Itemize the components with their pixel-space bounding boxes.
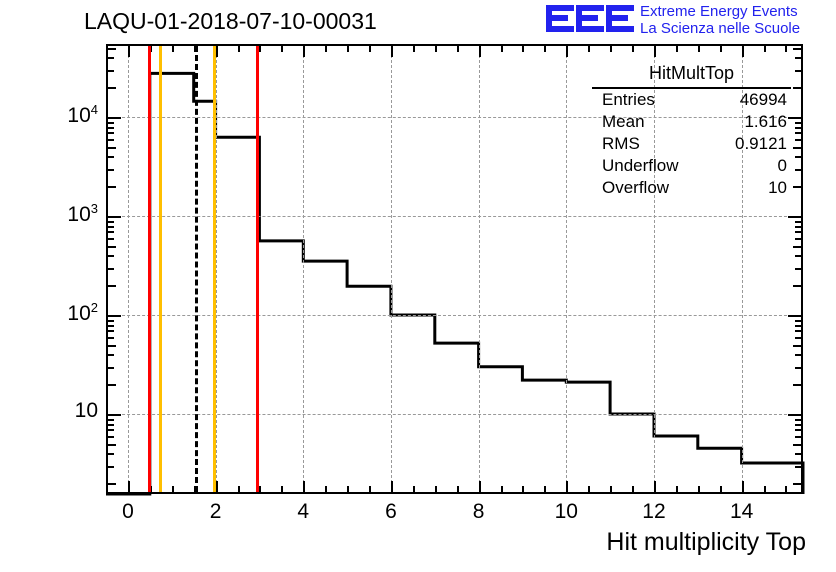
y-tick-right <box>795 238 802 240</box>
x-tick <box>303 481 305 493</box>
x-tick-top <box>457 45 459 52</box>
y-tick <box>107 127 114 129</box>
gridline-vertical <box>128 45 129 493</box>
y-tick <box>107 147 116 149</box>
y-tick-right <box>795 70 802 72</box>
y-tick-right <box>793 384 802 386</box>
x-tick <box>588 486 590 493</box>
x-tick <box>501 486 503 493</box>
y-tick-right <box>795 231 802 233</box>
x-tick <box>544 486 546 493</box>
y-tick <box>107 238 114 240</box>
marker-line-2 <box>195 46 198 492</box>
y-tick-label: 103 <box>10 201 98 227</box>
x-tick <box>281 486 283 493</box>
y-tick <box>107 315 121 317</box>
y-tick <box>107 87 116 89</box>
y-tick-right <box>793 483 802 485</box>
y-tick-right <box>793 87 802 89</box>
y-tick-right <box>795 337 802 339</box>
x-tick-top <box>522 45 524 52</box>
y-tick-right <box>795 453 802 455</box>
x-tick-top <box>391 45 393 57</box>
y-tick-right <box>793 48 802 50</box>
stats-key: Mean <box>602 112 645 132</box>
y-tick <box>107 226 114 228</box>
y-tick-right <box>793 246 802 248</box>
x-tick-top <box>588 45 590 52</box>
stats-row: Mean1.616 <box>592 111 791 133</box>
x-tick-top <box>610 45 612 52</box>
x-tick-top <box>303 45 305 57</box>
y-tick <box>107 216 121 218</box>
y-tick <box>107 246 116 248</box>
y-tick-right <box>795 268 802 270</box>
x-tick-top <box>435 45 437 52</box>
y-tick-right <box>795 424 802 426</box>
x-tick <box>457 486 459 493</box>
x-tick-top <box>413 45 415 52</box>
x-tick-top <box>128 45 130 57</box>
x-tick-top <box>325 45 327 52</box>
y-tick-right <box>793 345 802 347</box>
stats-key: Underflow <box>602 156 679 176</box>
marker-line-0 <box>148 46 151 492</box>
x-tick <box>128 481 130 493</box>
x-tick-top <box>720 45 722 52</box>
y-tick-right <box>795 466 802 468</box>
gridline-vertical <box>566 45 567 493</box>
y-tick <box>107 337 114 339</box>
x-tick-top <box>676 45 678 52</box>
y-tick <box>107 122 114 124</box>
x-tick <box>742 481 744 493</box>
y-tick <box>107 429 114 431</box>
y-tick-right <box>788 216 802 218</box>
stats-title: HitMultTop <box>592 62 791 89</box>
stats-key: Overflow <box>602 178 669 198</box>
y-tick <box>107 436 114 438</box>
x-tick <box>522 486 524 493</box>
y-tick-right <box>795 226 802 228</box>
x-tick-top <box>238 45 240 52</box>
y-tick <box>107 424 114 426</box>
y-tick <box>107 466 114 468</box>
x-tick <box>566 481 568 493</box>
x-tick <box>325 486 327 493</box>
gridline-horizontal <box>107 216 802 217</box>
y-tick-right <box>795 139 802 141</box>
y-tick <box>107 48 116 50</box>
y-tick <box>107 169 114 171</box>
marker-line-1 <box>159 46 162 492</box>
x-tick <box>172 486 174 493</box>
x-tick <box>785 486 787 493</box>
stats-value: 10 <box>768 178 787 198</box>
marker-line-4 <box>256 46 259 492</box>
x-tick <box>676 486 678 493</box>
stats-row: RMS0.9121 <box>592 133 791 155</box>
x-tick-label: 10 <box>536 500 596 524</box>
x-tick-label: 8 <box>449 500 509 524</box>
stats-row: Underflow0 <box>592 155 791 177</box>
plot-canvas: LAQU-01-2018-07-10-00031 Extreme Energy … <box>0 0 836 572</box>
y-tick-right <box>788 315 802 317</box>
x-tick-top <box>501 45 503 52</box>
x-tick <box>632 486 634 493</box>
x-tick <box>720 486 722 493</box>
x-tick <box>435 486 437 493</box>
y-tick <box>107 367 114 369</box>
y-tick <box>107 330 114 332</box>
x-tick-top <box>654 45 656 57</box>
y-tick <box>107 268 114 270</box>
x-tick <box>369 486 371 493</box>
y-tick-right <box>795 255 802 257</box>
y-tick <box>107 345 116 347</box>
x-tick-top <box>566 45 568 57</box>
stats-key: Entries <box>602 90 655 110</box>
y-tick-right <box>795 320 802 322</box>
gridline-vertical <box>479 45 480 493</box>
y-tick-right <box>795 367 802 369</box>
x-tick-top <box>785 45 787 52</box>
y-tick-right <box>795 57 802 59</box>
y-tick <box>107 255 114 257</box>
y-tick <box>107 117 121 119</box>
y-tick-right <box>795 436 802 438</box>
y-tick <box>107 186 116 188</box>
x-tick-top <box>698 45 700 52</box>
x-tick-top <box>369 45 371 52</box>
stats-key: RMS <box>602 134 640 154</box>
x-tick-top <box>632 45 634 52</box>
y-tick <box>107 156 114 158</box>
y-tick-right <box>795 330 802 332</box>
x-tick-label: 14 <box>712 500 772 524</box>
y-tick <box>107 453 114 455</box>
y-tick <box>107 419 114 421</box>
x-tick-top <box>347 45 349 52</box>
y-tick-right <box>795 156 802 158</box>
y-tick-right <box>795 419 802 421</box>
x-tick-label: 12 <box>624 500 684 524</box>
gridline-horizontal <box>107 315 802 316</box>
y-tick <box>107 70 114 72</box>
y-tick-right <box>793 285 802 287</box>
x-tick-top <box>172 45 174 52</box>
stats-rows: Entries46994Mean1.616RMS0.9121Underflow0… <box>592 89 791 199</box>
y-tick-right <box>795 325 802 327</box>
marker-line-3 <box>213 46 216 492</box>
y-tick <box>107 483 116 485</box>
x-tick <box>698 486 700 493</box>
x-axis-title: Hit multiplicity Top <box>606 528 806 557</box>
y-tick <box>107 444 116 446</box>
y-tick-right <box>793 186 802 188</box>
y-tick-right <box>788 414 802 416</box>
x-tick <box>764 486 766 493</box>
y-tick <box>107 384 116 386</box>
y-tick-right <box>793 444 802 446</box>
y-tick <box>107 139 114 141</box>
y-tick <box>107 221 114 223</box>
x-tick-top <box>764 45 766 52</box>
x-tick-label: 2 <box>186 500 246 524</box>
y-tick-label: 102 <box>10 300 98 326</box>
x-tick-top <box>479 45 481 57</box>
y-tick <box>107 354 114 356</box>
stats-value: 46994 <box>740 90 787 110</box>
y-tick-right <box>795 127 802 129</box>
x-tick <box>654 481 656 493</box>
y-tick-right <box>795 221 802 223</box>
y-tick-right <box>795 354 802 356</box>
stats-box: HitMultTop Entries46994Mean1.616RMS0.912… <box>592 62 791 199</box>
x-tick <box>479 481 481 493</box>
x-tick <box>259 486 261 493</box>
y-tick-right <box>795 132 802 134</box>
y-tick-right <box>795 122 802 124</box>
x-tick <box>391 481 393 493</box>
y-tick <box>107 320 114 322</box>
gridline-horizontal <box>107 414 802 415</box>
y-tick-label: 10 <box>10 399 98 423</box>
gridline-vertical <box>303 45 304 493</box>
stats-value: 0.9121 <box>735 134 787 154</box>
x-tick <box>238 486 240 493</box>
x-tick <box>106 486 108 493</box>
x-tick-top <box>281 45 283 52</box>
x-tick <box>610 486 612 493</box>
y-tick <box>107 325 114 327</box>
x-tick-top <box>544 45 546 52</box>
x-tick-label: 4 <box>273 500 333 524</box>
y-tick <box>107 132 114 134</box>
y-tick-right <box>793 147 802 149</box>
y-tick-right <box>795 169 802 171</box>
x-tick-top <box>742 45 744 57</box>
x-tick-label: 6 <box>361 500 421 524</box>
y-tick-right <box>795 429 802 431</box>
stats-row: Overflow10 <box>592 177 791 199</box>
y-tick <box>107 57 114 59</box>
y-tick <box>107 285 116 287</box>
y-tick <box>107 414 121 416</box>
x-tick <box>413 486 415 493</box>
x-tick-top <box>259 45 261 52</box>
gridline-vertical <box>391 45 392 493</box>
stats-value: 0 <box>778 156 787 176</box>
stats-row: Entries46994 <box>592 89 791 111</box>
x-tick-label: 0 <box>98 500 158 524</box>
y-tick-label: 104 <box>10 102 98 128</box>
y-tick <box>107 231 114 233</box>
stats-value: 1.616 <box>744 112 787 132</box>
x-tick <box>347 486 349 493</box>
